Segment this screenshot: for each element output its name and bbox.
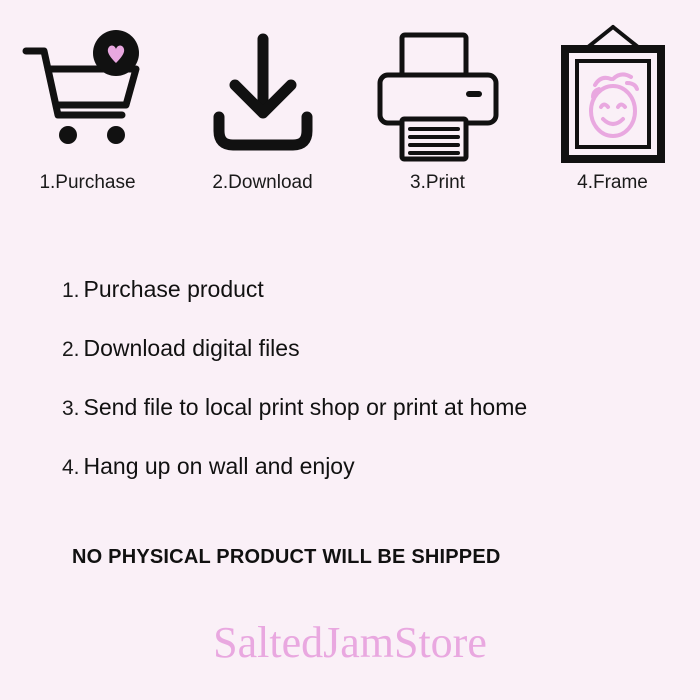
listing-instructions-page: 1.Purchase 2.Download xyxy=(0,0,700,700)
no-physical-product-notice: NO PHYSICAL PRODUCT WILL BE SHIPPED xyxy=(72,546,501,569)
list-item: 2. Download digital files xyxy=(62,335,662,362)
list-item-text: Hang up on wall and enjoy xyxy=(84,453,355,480)
list-item-number: 2. xyxy=(62,338,80,362)
download-arrow-icon xyxy=(193,18,333,168)
step-label: 4.Frame xyxy=(577,172,648,194)
list-item-number: 1. xyxy=(62,279,80,303)
shop-brand-name: SaltedJamStore xyxy=(0,617,700,668)
printer-icon xyxy=(368,18,508,168)
list-item-text: Download digital files xyxy=(84,335,300,362)
step-label: 2.Download xyxy=(212,172,312,194)
step-print: 3.Print xyxy=(358,18,518,194)
step-frame: 4.Frame xyxy=(533,18,693,194)
list-item-text: Send file to local print shop or print a… xyxy=(84,394,528,421)
step-icon-strip: 1.Purchase 2.Download xyxy=(0,18,700,194)
step-label: 3.Print xyxy=(410,172,465,194)
list-item-number: 3. xyxy=(62,397,80,421)
step-download: 2.Download xyxy=(183,18,343,194)
hanging-picture-frame-icon xyxy=(543,18,683,168)
shopping-cart-check-icon xyxy=(18,18,158,168)
instruction-list: 1. Purchase product 2. Download digital … xyxy=(62,276,662,512)
step-label: 1.Purchase xyxy=(39,172,135,194)
step-purchase: 1.Purchase xyxy=(8,18,168,194)
list-item: 4. Hang up on wall and enjoy xyxy=(62,453,662,480)
list-item-text: Purchase product xyxy=(84,276,264,303)
list-item: 3. Send file to local print shop or prin… xyxy=(62,394,662,421)
list-item-number: 4. xyxy=(62,456,80,480)
list-item: 1. Purchase product xyxy=(62,276,662,303)
